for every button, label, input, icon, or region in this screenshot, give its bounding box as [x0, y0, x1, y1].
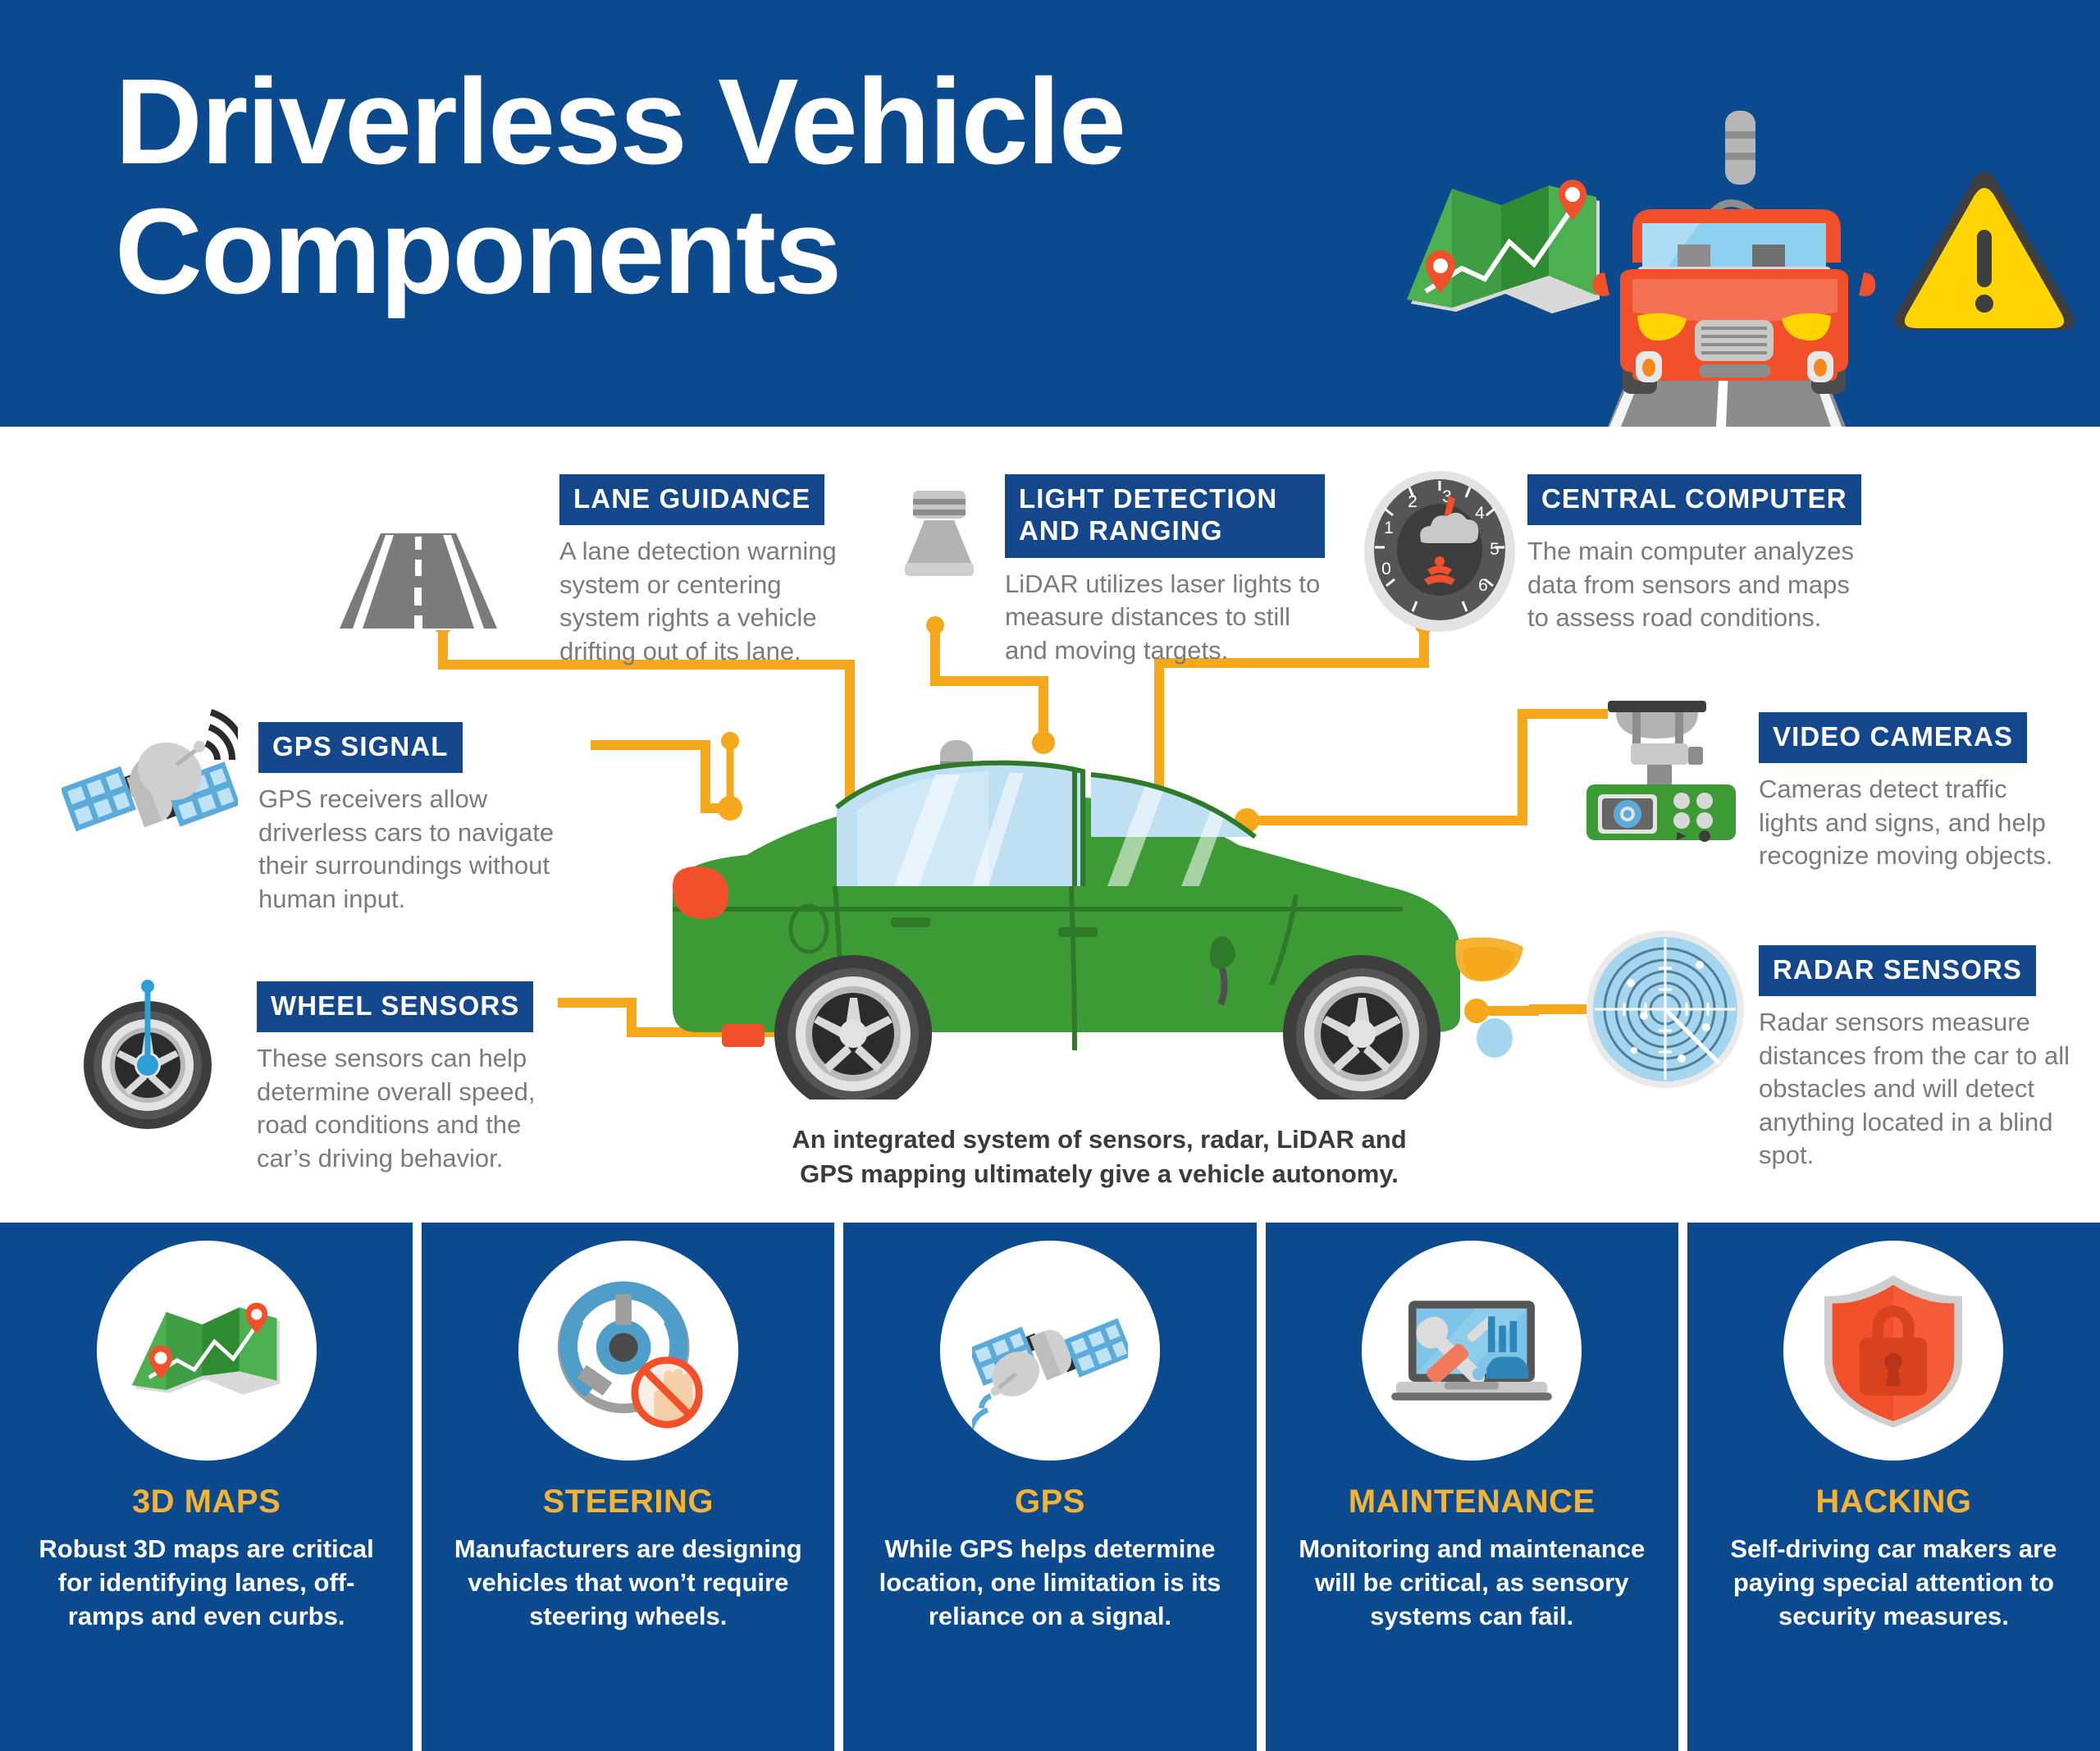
- card-icon-wrap-3d-maps: [97, 1241, 317, 1461]
- card-body-gps: While GPS helps determine location, one …: [873, 1532, 1228, 1634]
- red-car-front-icon: [1593, 111, 1875, 394]
- card-body-steering: Manufacturers are designing vehicles tha…: [450, 1532, 806, 1634]
- svg-text:5: 5: [1490, 540, 1500, 559]
- svg-text:1: 1: [1384, 519, 1394, 537]
- card-maintenance[interactable]: MAINTENANCE Monitoring and maintenance w…: [1266, 1223, 1678, 1751]
- steering-wheel-no-hands-icon: [548, 1270, 709, 1431]
- satellite-icon: [62, 707, 238, 884]
- card-icon-wrap-gps: [940, 1241, 1160, 1461]
- card-body-hacking: Self-driving car makers are paying speci…: [1716, 1532, 2071, 1634]
- callout-desc-light-detection-and-ranging: LiDAR utilizes laser lights to measure d…: [1005, 568, 1325, 668]
- lidar-sensor-icon: [890, 484, 988, 632]
- no-hands-icon: [635, 1360, 699, 1424]
- cards-row: 3D MAPS Robust 3D maps are critical for …: [0, 1223, 2100, 1751]
- callout-lane-guidance: LANE GUIDANCE A lane detection warning s…: [559, 474, 855, 668]
- card-3d-maps[interactable]: 3D MAPS Robust 3D maps are critical for …: [0, 1223, 413, 1751]
- card-title-maintenance: MAINTENANCE: [1349, 1484, 1596, 1520]
- callout-radar-sensors: RADAR SENSORS Radar sensors measure dist…: [1759, 945, 2070, 1173]
- callout-title-radar-sensors: RADAR SENSORS: [1759, 945, 2036, 996]
- callout-gps-signal: GPS SIGNAL GPS receivers allow driverles…: [258, 722, 578, 916]
- wheel-sensor-icon: [66, 968, 230, 1132]
- card-title-gps: GPS: [1015, 1484, 1085, 1520]
- card-icon-wrap-steering: [518, 1241, 738, 1461]
- road-lane-icon: [328, 525, 509, 632]
- callout-desc-gps-signal: GPS receivers allow driverless cars to n…: [258, 783, 578, 916]
- card-body-3d-maps: Robust 3D maps are critical for identify…: [29, 1532, 384, 1634]
- callout-desc-lane-guidance: A lane detection warning system or cente…: [559, 535, 855, 668]
- callout-desc-wheel-sensors: These sensors can help determine overall…: [257, 1042, 560, 1175]
- callout-title-light-detection-and-ranging: LIGHT DETECTION AND RANGING: [1005, 474, 1325, 558]
- svg-text:4: 4: [1475, 504, 1485, 523]
- fog-light-icon: [1807, 351, 1833, 382]
- card-title-steering: STEERING: [543, 1484, 714, 1520]
- svg-text:6: 6: [1478, 576, 1488, 595]
- page-title-line-2: Components: [115, 187, 1345, 317]
- satellite-icon: [972, 1273, 1128, 1429]
- callout-title-video-cameras: VIDEO CAMERAS: [1759, 712, 2027, 763]
- page-title-line-1: Driverless Vehicle: [115, 54, 1125, 190]
- map-icon: [1407, 180, 1600, 313]
- shield-lock-icon: [1821, 1270, 1965, 1431]
- header-banner: Driverless Vehicle Components: [0, 0, 2100, 427]
- callout-desc-central-computer: The main computer analyzes data from sen…: [1527, 535, 1872, 635]
- callout-video-cameras: VIDEO CAMERAS Cameras detect traffic lig…: [1759, 712, 2062, 873]
- green-car-side-illustration: [648, 722, 1632, 1100]
- fog-light-icon: [1636, 351, 1662, 382]
- card-hacking[interactable]: HACKING Self-driving car makers are payi…: [1687, 1223, 2100, 1751]
- callout-central-computer: CENTRAL COMPUTER The main computer analy…: [1527, 474, 1872, 635]
- card-body-maintenance: Monitoring and maintenance will be criti…: [1294, 1532, 1650, 1634]
- header-illustration: [1362, 33, 2092, 427]
- callout-light-detection-and-ranging: LIGHT DETECTION AND RANGING LiDAR utiliz…: [1005, 474, 1325, 668]
- callout-desc-video-cameras: Cameras detect traffic lights and signs,…: [1759, 773, 2062, 873]
- callout-title-central-computer: CENTRAL COMPUTER: [1527, 474, 1861, 525]
- card-steering[interactable]: STEERING Manufacturers are designing veh…: [422, 1223, 834, 1751]
- gauge-dial-icon: 0 1 2 3 4 5 6: [1362, 469, 1518, 633]
- warning-triangle-icon: [1894, 171, 2075, 330]
- callout-wheel-sensors: WHEEL SENSORS These sensors can help det…: [257, 981, 560, 1175]
- card-gps[interactable]: GPS While GPS helps determine location, …: [843, 1223, 1256, 1751]
- bottom-section: 3D MAPS Robust 3D maps are critical for …: [0, 1223, 2100, 1751]
- callout-title-lane-guidance: LANE GUIDANCE: [559, 474, 824, 525]
- diagram-caption: An integrated system of sensors, radar, …: [787, 1122, 1411, 1191]
- callout-title-gps-signal: GPS SIGNAL: [258, 722, 463, 773]
- page-title: Driverless Vehicle Components: [115, 57, 1345, 318]
- folded-map-icon: [129, 1296, 285, 1406]
- card-icon-wrap-maintenance: [1362, 1241, 1582, 1461]
- laptop-tools-icon: [1390, 1288, 1554, 1413]
- card-title-3d-maps: 3D MAPS: [132, 1484, 281, 1520]
- card-icon-wrap-hacking: [1783, 1241, 2003, 1461]
- svg-text:0: 0: [1381, 560, 1391, 578]
- callout-title-wheel-sensors: WHEEL SENSORS: [257, 981, 533, 1032]
- card-title-hacking: HACKING: [1815, 1484, 1971, 1520]
- callout-desc-radar-sensors: Radar sensors measure distances from the…: [1759, 1006, 2070, 1173]
- svg-text:2: 2: [1408, 492, 1417, 511]
